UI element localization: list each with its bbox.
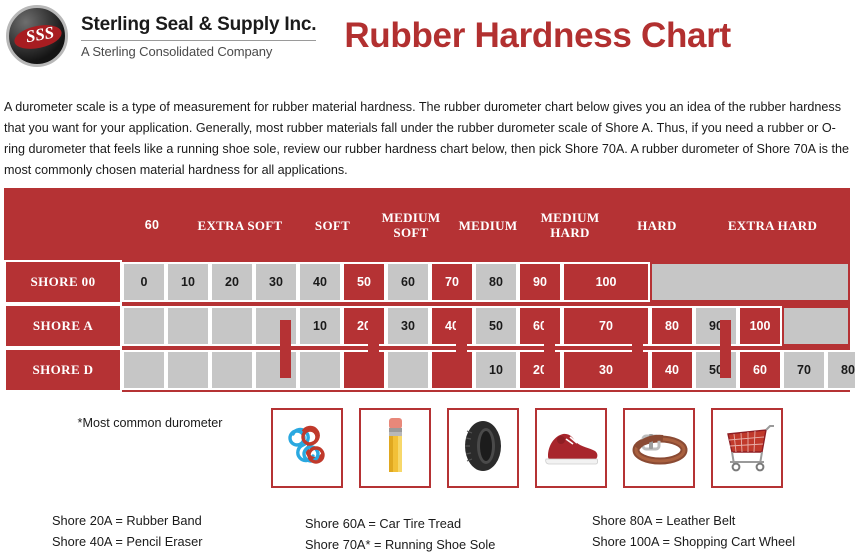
hardness-cell[interactable]: 50 [474, 306, 518, 346]
band-label-soft: SOFT [300, 189, 365, 261]
hardness-cell[interactable] [122, 306, 166, 346]
hardness-cell[interactable]: 20 [342, 306, 386, 346]
band-label-medium: MEDIUM [449, 189, 527, 261]
company-name: Sterling Seal & Supply Inc. [81, 14, 316, 36]
cells-container: 0102030405060708090100 [122, 260, 850, 304]
hardness-cell[interactable]: 40 [430, 306, 474, 346]
hardness-cell[interactable]: 100 [738, 306, 782, 346]
band-label-medium-soft: MEDIUM SOFT [371, 189, 451, 261]
scale-row-shore-a: SHORE A102030405060708090100 [4, 304, 850, 348]
shoe-sole-image[interactable] [535, 408, 607, 488]
hardness-cell[interactable]: 70 [782, 350, 826, 390]
hardness-cell[interactable]: 30 [386, 306, 430, 346]
cells-container: 102030405060708090100 [122, 348, 850, 392]
rubber-band-image[interactable] [271, 408, 343, 488]
hardness-cell[interactable]: 50 [342, 262, 386, 302]
hardness-cell[interactable]: 90 [694, 306, 738, 346]
hardness-cell[interactable]: 80 [474, 262, 518, 302]
hardness-cell[interactable]: 20 [518, 350, 562, 390]
hardness-cell[interactable]: 60 [518, 306, 562, 346]
hardness-cell[interactable] [650, 262, 850, 302]
page-header: SSS Sterling Seal & Supply Inc. A Sterli… [0, 0, 855, 72]
brand-divider [81, 40, 316, 41]
hardness-cell[interactable] [386, 350, 430, 390]
hardness-cell[interactable]: 80 [826, 350, 855, 390]
car-tire-image[interactable] [447, 408, 519, 488]
hardness-cell[interactable]: 60 [738, 350, 782, 390]
pencil-icon [367, 414, 423, 483]
hardness-cell[interactable]: 60 [386, 262, 430, 302]
band-label-hard: HARD [617, 189, 697, 261]
hardness-cell[interactable] [210, 306, 254, 346]
shopping-cart-image[interactable] [711, 408, 783, 488]
legend-entry: Shore 40A = Pencil Eraser [52, 531, 202, 552]
hardness-cell[interactable]: 20 [210, 262, 254, 302]
hardness-cell[interactable]: 90 [518, 262, 562, 302]
company-tagline: A Sterling Consolidated Company [81, 44, 316, 59]
band-label-extra-soft: EXTRA SOFT [175, 189, 305, 261]
brand-logo: SSS Sterling Seal & Supply Inc. A Sterli… [0, 5, 316, 67]
hardness-cell[interactable] [166, 350, 210, 390]
hardness-cell[interactable] [254, 350, 298, 390]
belt-icon [629, 426, 689, 471]
hardness-cell[interactable]: 0 [122, 262, 166, 302]
hardness-cell[interactable] [166, 306, 210, 346]
hardness-cell[interactable] [342, 350, 386, 390]
legend-column-3: Shore 80A = Leather BeltShore 100A = Sho… [592, 510, 795, 552]
band-label-60: 60 [123, 189, 181, 261]
hardness-cell[interactable]: 100 [562, 262, 650, 302]
hardness-cell[interactable]: 70 [430, 262, 474, 302]
hardness-cell[interactable] [782, 306, 850, 346]
legend-entry: Shore 100A = Shopping Cart Wheel [592, 531, 795, 552]
rubber-hardness-chart: 60EXTRA SOFTSOFTMEDIUM SOFTMEDIUMMEDIUM … [4, 188, 850, 392]
pencil-eraser-image[interactable] [359, 408, 431, 488]
row-label-shore-00: SHORE 00 [4, 260, 122, 304]
page-title: Rubber Hardness Chart [344, 16, 731, 56]
intro-paragraph: A durometer scale is a type of measureme… [4, 97, 851, 181]
hardness-cell[interactable]: 30 [562, 350, 650, 390]
band-label-medium-hard: MEDIUM HARD [525, 189, 615, 261]
hardness-cell[interactable]: 40 [650, 350, 694, 390]
scale-row-shore-00: SHORE 000102030405060708090100 [4, 260, 850, 304]
hardness-cell[interactable]: 80 [650, 306, 694, 346]
shore-scale-rows: SHORE 000102030405060708090100SHORE A102… [4, 260, 850, 392]
hardness-cell[interactable] [430, 350, 474, 390]
rubber-band-icon [279, 418, 335, 479]
scale-row-shore-d: SHORE D102030405060708090100 [4, 348, 850, 392]
hardness-cell[interactable] [122, 350, 166, 390]
legend-column-2: Shore 60A = Car Tire TreadShore 70A* = R… [305, 513, 495, 555]
row-label-shore-d: SHORE D [4, 348, 122, 392]
hardness-band-header: 60EXTRA SOFTSOFTMEDIUM SOFTMEDIUMMEDIUM … [4, 188, 850, 260]
row-label-shore-a: SHORE A [4, 304, 122, 348]
hardness-cell[interactable]: 10 [298, 306, 342, 346]
shopping-cart-icon [716, 418, 778, 479]
legend-entry: Shore 80A = Leather Belt [592, 510, 795, 531]
hardness-cell[interactable]: 10 [474, 350, 518, 390]
legend-entry: Shore 70A* = Running Shoe Sole [305, 534, 495, 555]
product-image-row [4, 408, 850, 488]
cells-container: 102030405060708090100 [122, 304, 850, 348]
legend-column-1: Shore 20A = Rubber BandShore 40A = Penci… [52, 510, 202, 552]
hardness-cell[interactable]: 10 [166, 262, 210, 302]
hardness-cell[interactable] [254, 306, 298, 346]
band-label-extra-hard: EXTRA HARD [705, 189, 840, 261]
sneaker-icon [540, 424, 602, 473]
leather-belt-image[interactable] [623, 408, 695, 488]
tire-icon [454, 417, 512, 480]
legend-entry: Shore 60A = Car Tire Tread [305, 513, 495, 534]
sterling-seal-logo-icon: SSS [6, 5, 68, 67]
hardness-cell[interactable] [210, 350, 254, 390]
hardness-cell[interactable]: 30 [254, 262, 298, 302]
legend-entry: Shore 20A = Rubber Band [52, 510, 202, 531]
brand-text: Sterling Seal & Supply Inc. A Sterling C… [81, 14, 316, 59]
hardness-cell[interactable]: 70 [562, 306, 650, 346]
hardness-cell[interactable]: 40 [298, 262, 342, 302]
hardness-cell[interactable]: 50 [694, 350, 738, 390]
hardness-cell[interactable] [298, 350, 342, 390]
